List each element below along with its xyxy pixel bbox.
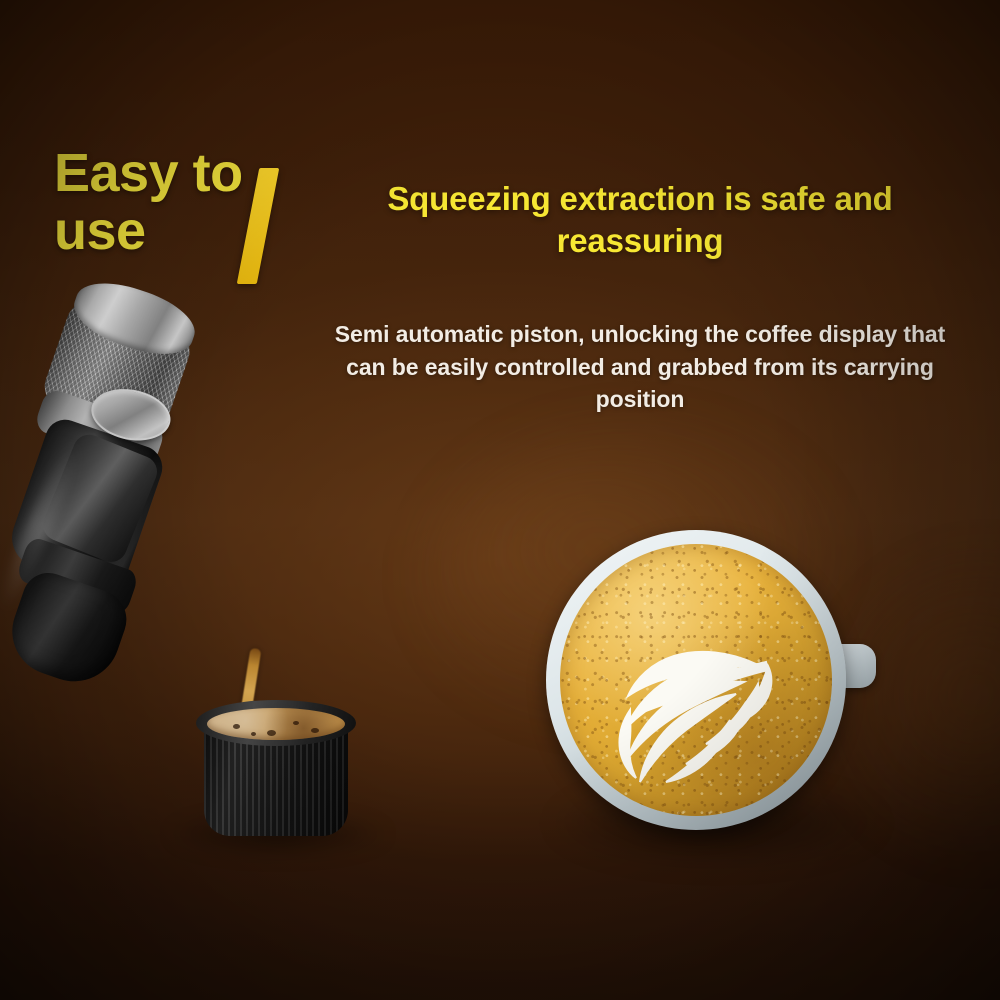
rosetta-latte-art-icon	[560, 544, 832, 816]
crema-bubble	[233, 724, 240, 729]
body-paragraph: Semi automatic piston, unlocking the cof…	[330, 318, 950, 416]
espresso-crema	[207, 708, 345, 740]
eyebrow-text: Easy to use	[54, 144, 264, 261]
espresso-cup	[196, 700, 356, 850]
crema-bubble	[251, 732, 256, 736]
cappuccino-cup	[546, 528, 946, 876]
headline-text: Squeezing extraction is safe and reassur…	[330, 178, 950, 261]
crema-bubble	[293, 721, 299, 725]
crema-bubble	[267, 730, 276, 736]
crema-bubble	[311, 728, 319, 733]
product-promo-poster: Easy to use Squeezing extraction is safe…	[0, 0, 1000, 1000]
